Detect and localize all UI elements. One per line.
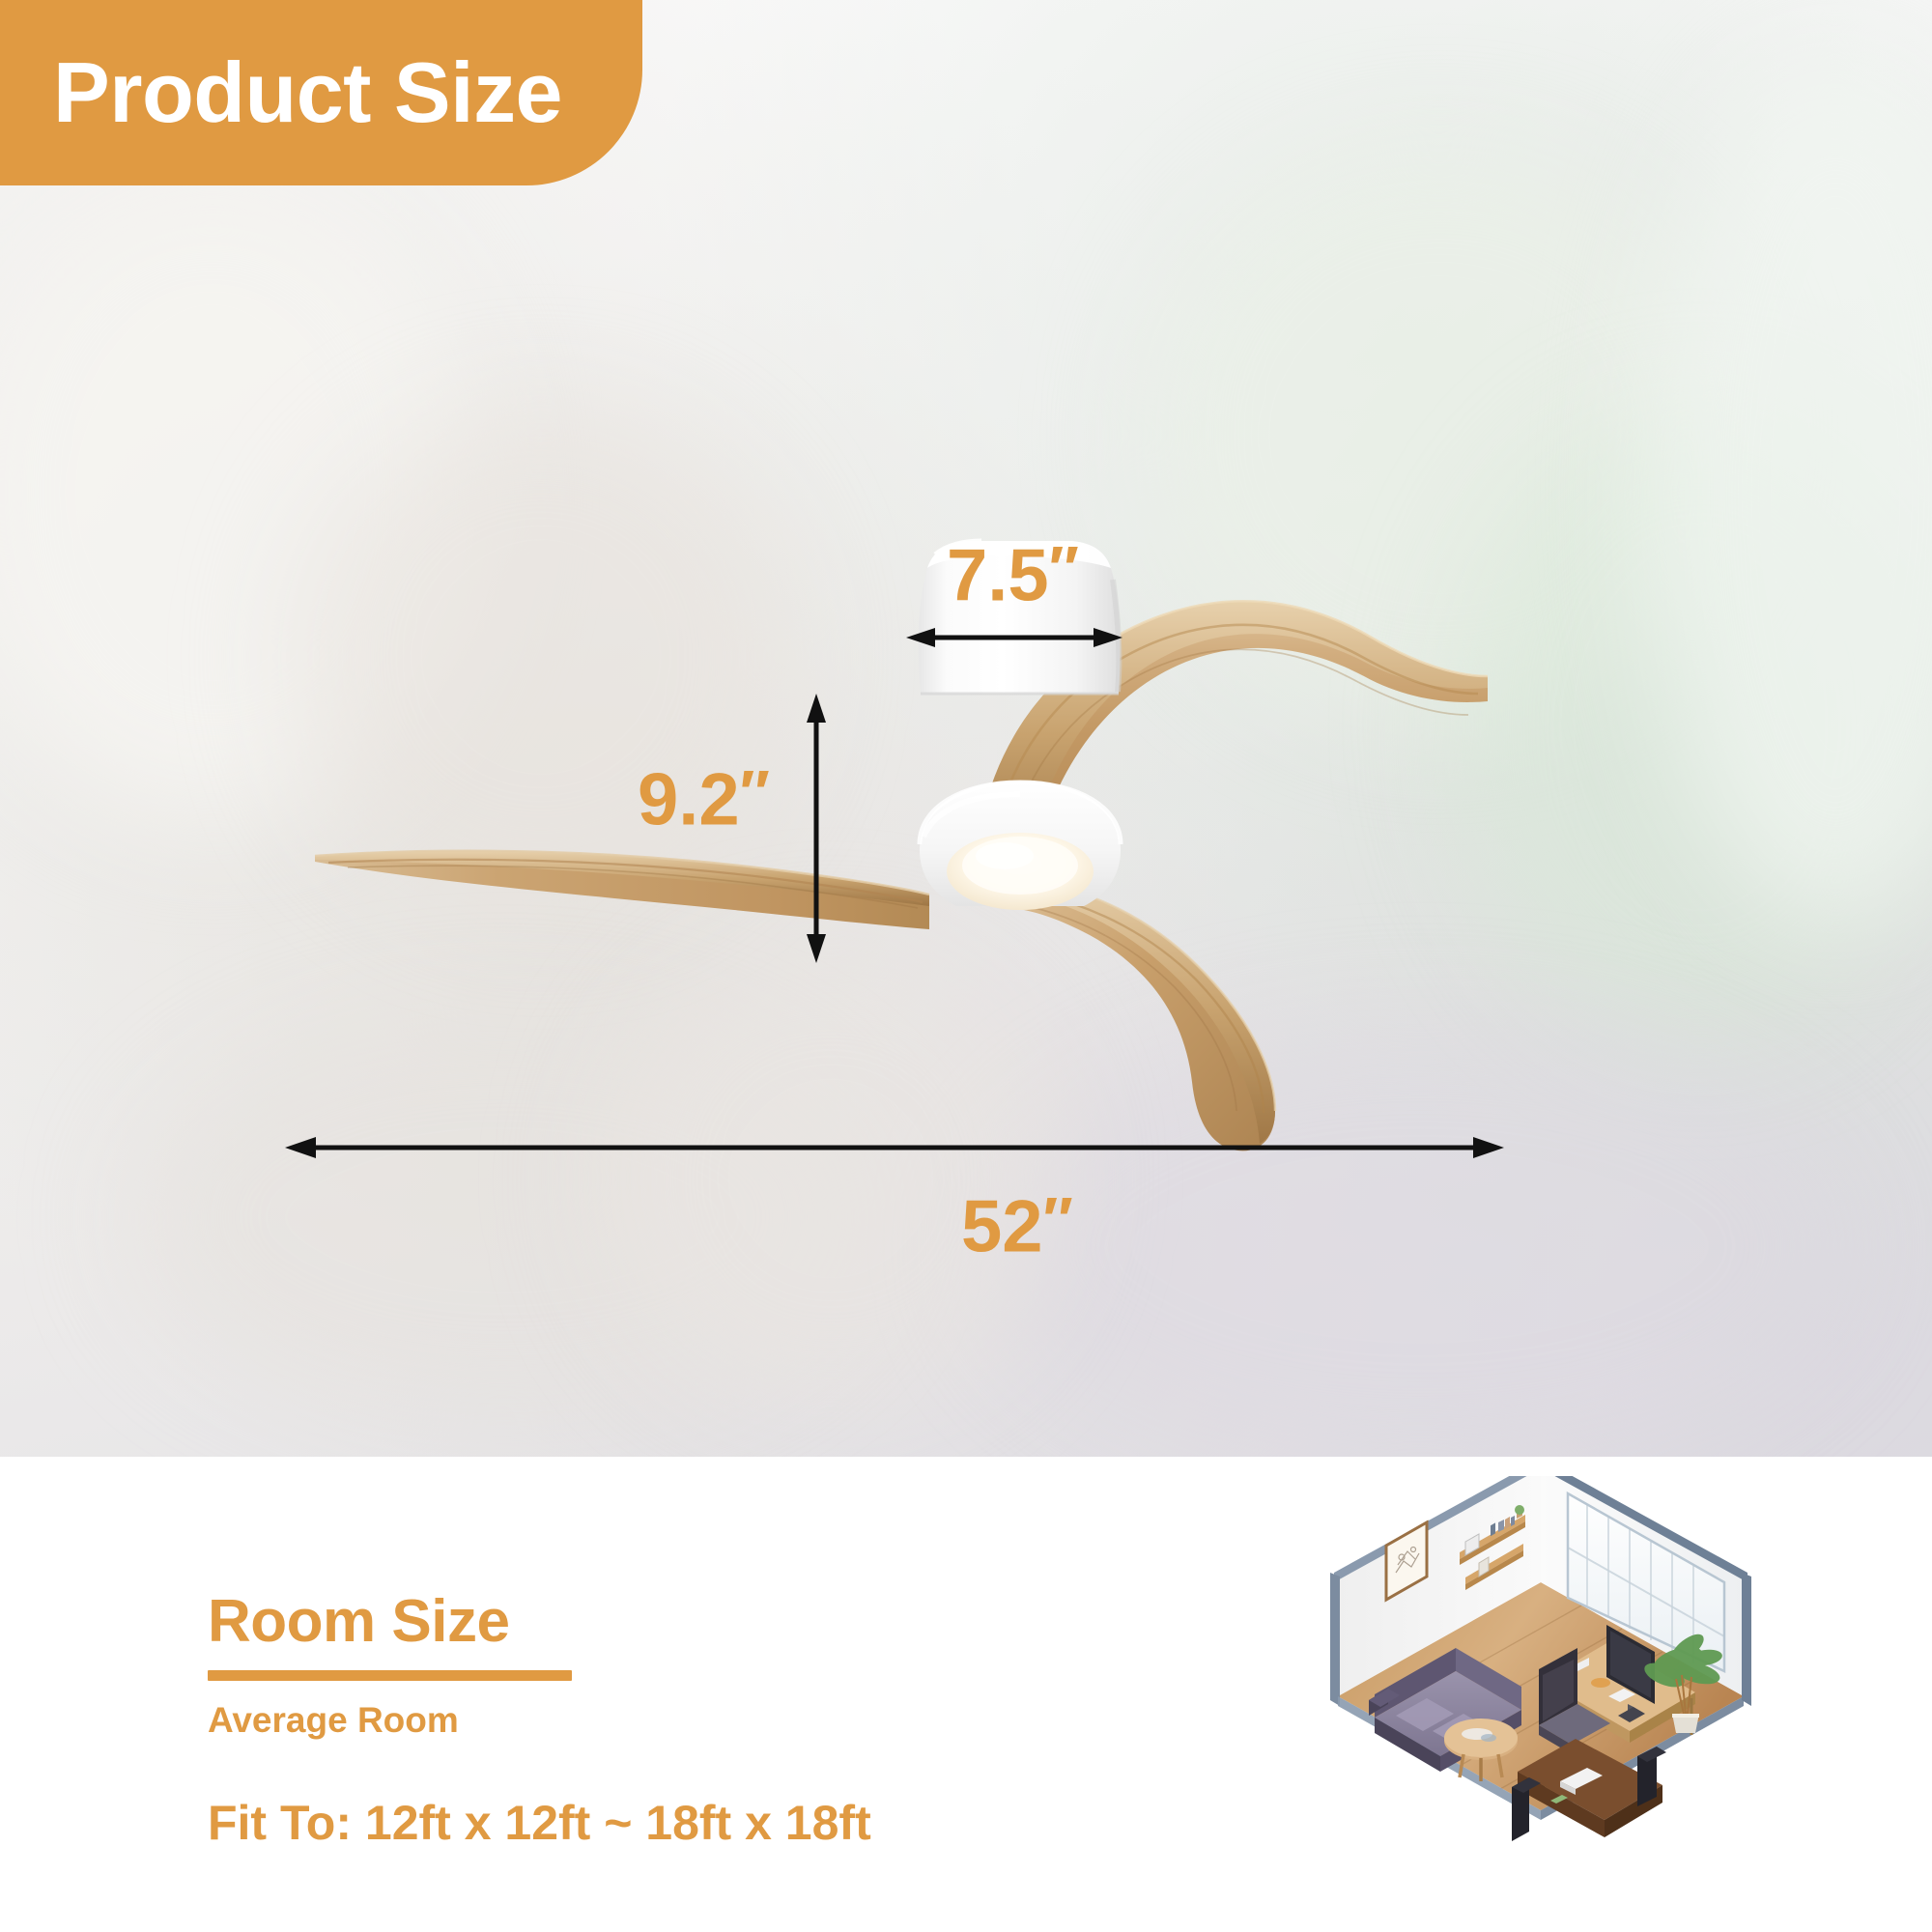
inch-mark-icon: ″ [1043,1184,1072,1255]
room-frame-right-edge [1742,1573,1751,1706]
dimension-value-9-2: 9.2 [638,758,740,840]
inch-mark-icon: ″ [740,757,769,828]
room-frame-left-edge [1330,1573,1340,1706]
room-size-underline [208,1670,572,1681]
room-size-subtitle: Average Room [208,1702,572,1738]
room-size-panel: Room Size Average Room Fit To: 12ft x 12… [0,1457,1932,1932]
background-blur-blob [985,1024,1855,1457]
dimension-value-52: 52 [961,1185,1043,1267]
dimension-value-7-5: 7.5 [947,534,1049,616]
page-title: Product Size [53,50,562,135]
inch-mark-icon: ″ [1049,533,1078,604]
isometric-room-diagram [1319,1476,1763,1911]
dimension-label-52: 52″ [961,1188,1072,1264]
dimension-label-7-5: 7.5″ [947,537,1078,612]
product-size-infographic: Product Size 7.5″ 9.2″ 52″ Room Size Ave… [0,0,1932,1932]
room-size-text-block: Room Size Average Room [208,1592,572,1738]
room-size-title: Room Size [208,1592,572,1652]
dimension-label-9-2: 9.2″ [638,761,769,837]
product-size-banner: Product Size [0,0,642,185]
room-fit-to-text: Fit To: 12ft x 12ft ~ 18ft x 18ft [208,1799,871,1847]
background-blur-blob [599,947,1063,1410]
